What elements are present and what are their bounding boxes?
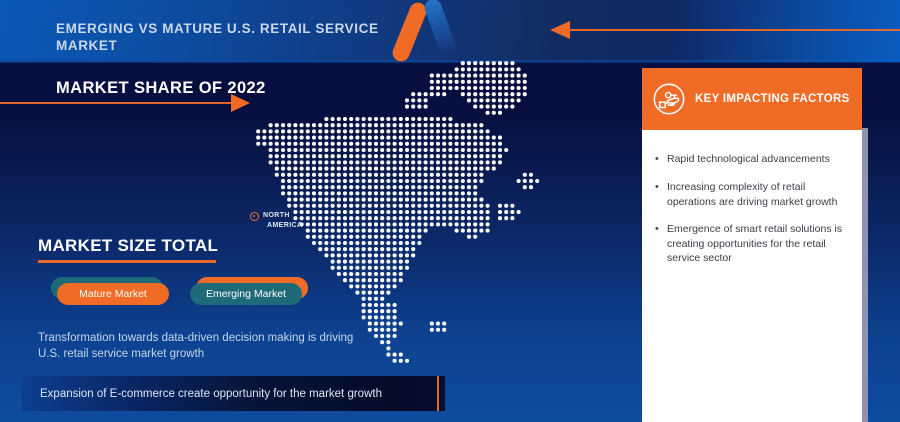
- arrow-shaft: [568, 29, 900, 31]
- arrow-head-left-icon: [550, 21, 570, 39]
- key-factors-heading: KEY IMPACTING FACTORS: [695, 93, 850, 105]
- arrow-head-right-icon: [231, 94, 250, 112]
- market-size-total-title: MARKET SIZE TOTAL: [38, 236, 218, 260]
- region-label-line1: NORTH: [263, 211, 302, 221]
- title-underline: [38, 260, 216, 263]
- list-item-label: Rapid technological advancements: [667, 152, 830, 167]
- ecommerce-callout-bar: Expansion of E-commerce create opportuni…: [22, 376, 445, 411]
- key-factors-list: •Rapid technological advancements•Increa…: [655, 152, 855, 279]
- legend-pill-mature[interactable]: Mature Market: [57, 283, 169, 305]
- logo-bar-orange: [390, 0, 429, 64]
- ecommerce-callout-text: Expansion of E-commerce create opportuni…: [22, 388, 382, 400]
- key-factors-header: KEY IMPACTING FACTORS: [642, 68, 862, 130]
- list-item-label: Increasing complexity of retail operatio…: [667, 180, 855, 209]
- list-item: •Increasing complexity of retail operati…: [655, 180, 855, 209]
- logo-bar-blue: [422, 0, 458, 59]
- hand-holding-money-icon: [652, 82, 686, 116]
- transformation-paragraph: Transformation towards data-driven decis…: [38, 330, 368, 362]
- ecommerce-accent-line: [437, 376, 439, 411]
- list-item: •Emergence of smart retail solutions is …: [655, 222, 855, 266]
- market-size-total-group: MARKET SIZE TOTAL: [38, 236, 218, 263]
- north-america-label: NORTH AMERICA: [263, 211, 302, 230]
- arrow-shaft: [0, 102, 233, 104]
- bullet-dot-icon: •: [655, 222, 667, 266]
- infographic-canvas: EMERGING VS MATURE U.S. RETAIL SERVICE M…: [0, 0, 900, 422]
- list-item: •Rapid technological advancements: [655, 152, 855, 167]
- top-left-pointing-arrow: [550, 21, 900, 39]
- legend-pill-emerging[interactable]: Emerging Market: [190, 283, 302, 305]
- market-legend: Mature Market Emerging Market: [46, 275, 346, 311]
- market-share-arrow: [0, 94, 250, 112]
- north-america-marker-group: NORTH AMERICA: [250, 211, 328, 237]
- location-pin-icon: [250, 212, 259, 221]
- region-label-line2: AMERICA: [263, 221, 302, 231]
- company-logo-mark: [392, 2, 470, 64]
- bullet-dot-icon: •: [655, 180, 667, 209]
- page-title: EMERGING VS MATURE U.S. RETAIL SERVICE M…: [56, 20, 386, 54]
- bullet-dot-icon: •: [655, 152, 667, 167]
- list-item-label: Emergence of smart retail solutions is c…: [667, 222, 855, 266]
